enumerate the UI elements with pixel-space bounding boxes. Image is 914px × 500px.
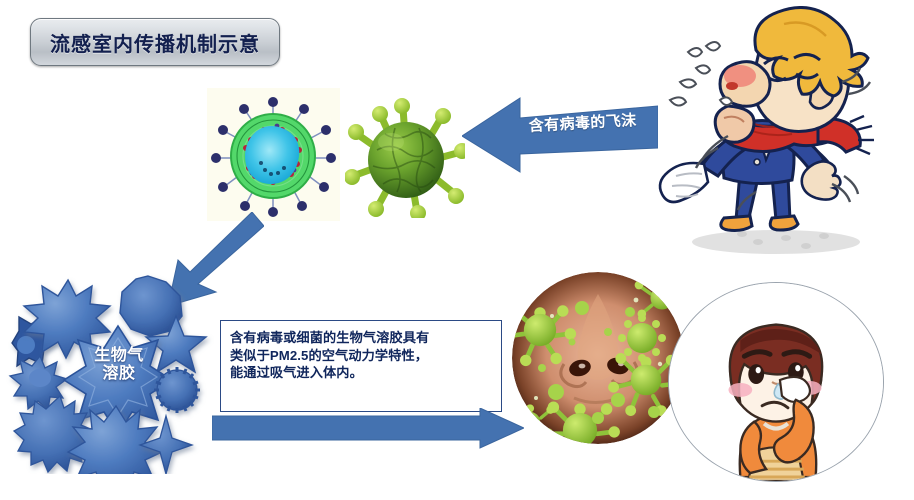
arrow-right-icon [212,408,524,452]
callout-line-2: 类似于PM2.5的空气动力学特性， [230,347,494,365]
virus-cross-section-icon [207,88,340,221]
callout-line-3: 能通过吸气进入体内。 [230,364,494,382]
sneezing-man-icon [636,6,914,258]
page-title: 流感室内传播机制示意 [50,28,260,57]
virus-particle-icon [345,90,465,218]
callout-box: 含有病毒或细菌的生物气溶胶具有 类似于PM2.5的空气动力学特性， 能通过吸气进… [220,320,502,412]
virus-cross-section-panel [207,88,340,221]
title-plaque: 流感室内传播机制示意 [30,18,280,66]
sick-girl-icon [668,282,884,482]
aerosol-cluster [0,268,228,474]
callout-line-1: 含有病毒或细菌的生物气溶胶具有 [230,329,494,347]
infographic-canvas: 流感室内传播机制示意 [0,0,914,500]
nose-inhaling-virus-icon [512,272,684,444]
